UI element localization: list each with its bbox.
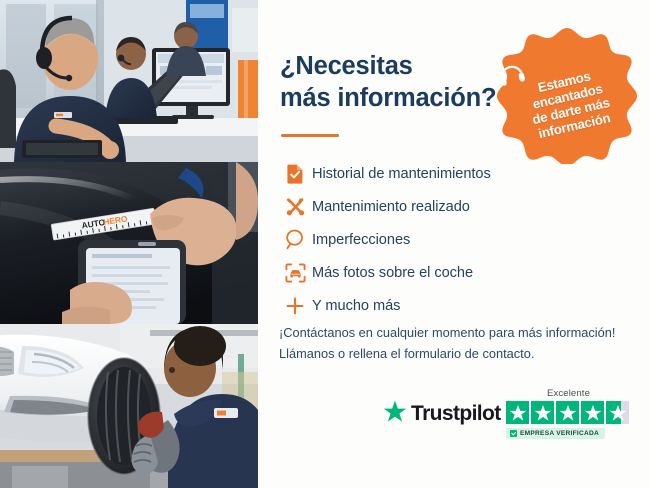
contact-paragraph: ¡Contáctanos en cualquier momento para m… bbox=[279, 323, 639, 365]
star-1 bbox=[506, 401, 529, 424]
plus-icon bbox=[278, 293, 312, 319]
feature-item-historial: Historial de mantenimientos bbox=[278, 157, 638, 190]
car-viewfinder-icon bbox=[278, 260, 312, 286]
verified-check-icon bbox=[510, 430, 517, 437]
info-banner: AUTO HERO bbox=[0, 0, 650, 488]
feature-list: Historial de mantenimientos M bbox=[278, 157, 638, 322]
verified-business-badge: EMPRESA VERIFICADA bbox=[506, 428, 605, 439]
promo-badge: Estamos encantados de darte más informac… bbox=[497, 24, 637, 164]
photo-column: AUTO HERO bbox=[0, 0, 258, 488]
car-inspection-ruler-photo: AUTO HERO bbox=[0, 162, 258, 324]
feature-label: Imperfecciones bbox=[312, 232, 410, 248]
trustpilot-widget[interactable]: Trustpilot Excelente bbox=[383, 388, 633, 452]
mechanic-wheel-photo bbox=[0, 324, 258, 488]
call-center-agent-photo bbox=[0, 0, 258, 162]
contact-paragraph-line1: ¡Contáctanos en cualquier momento para m… bbox=[279, 323, 639, 344]
content-panel: ¿Necesitas más información? Estamos enca… bbox=[258, 0, 650, 488]
page-title: ¿Necesitas más información? bbox=[280, 50, 530, 115]
star-3 bbox=[556, 401, 579, 424]
star-4 bbox=[581, 401, 604, 424]
trustpilot-logo[interactable]: Trustpilot bbox=[383, 400, 501, 428]
star-2 bbox=[531, 401, 554, 424]
page-title-line2: más información? bbox=[280, 82, 530, 114]
feature-item-mantenimiento: Mantenimiento realizado bbox=[278, 190, 638, 223]
star-5-partial bbox=[606, 401, 629, 424]
trustpilot-brand: Trustpilot bbox=[411, 402, 501, 426]
feature-label: Mantenimiento realizado bbox=[312, 199, 470, 215]
trustpilot-rating-label: Excelente bbox=[506, 388, 631, 399]
feature-label: Y mucho más bbox=[312, 298, 400, 314]
feature-item-mas: Y mucho más bbox=[278, 289, 638, 322]
page-title-line1: ¿Necesitas bbox=[280, 52, 413, 80]
trustpilot-rating: Excelente bbox=[506, 388, 631, 442]
feature-label: Más fotos sobre el coche bbox=[312, 265, 473, 281]
trustpilot-star-icon bbox=[383, 400, 407, 428]
feature-item-imperfecciones: Imperfecciones bbox=[278, 223, 638, 256]
magnifier-icon bbox=[278, 227, 312, 253]
feature-label: Historial de mantenimientos bbox=[312, 166, 491, 182]
verified-business-label: EMPRESA VERIFICADA bbox=[520, 430, 599, 437]
feature-item-fotos: Más fotos sobre el coche bbox=[278, 256, 638, 289]
document-check-icon bbox=[278, 161, 312, 187]
contact-paragraph-line2: Llámanos o rellena el formulario de cont… bbox=[279, 344, 639, 365]
wrench-screwdriver-icon bbox=[278, 194, 312, 220]
title-underline bbox=[281, 134, 339, 137]
trustpilot-stars bbox=[506, 401, 631, 424]
